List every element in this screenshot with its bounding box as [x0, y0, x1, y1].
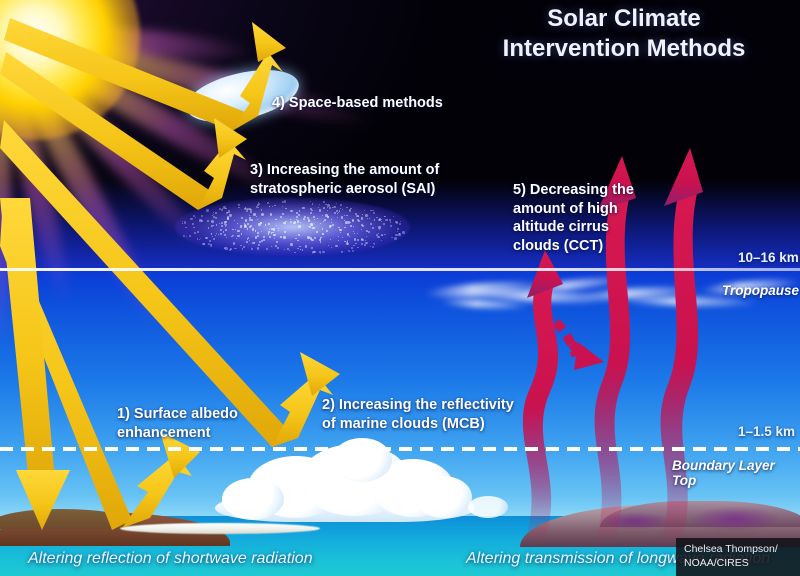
altitude-value-tropopause: 10–16 km	[738, 250, 799, 265]
layer-label-boundary-layer: Boundary Layer Top	[672, 458, 800, 488]
layer-label-tropopause: Tropopause	[722, 283, 799, 298]
method-label-5: 5) Decreasing the amount of high altitud…	[513, 181, 634, 255]
arrow-space-based-reflection	[4, 18, 286, 131]
tropopause-line	[0, 268, 800, 271]
method-label-2: 2) Increasing the reflectivity of marine…	[322, 396, 514, 433]
image-credit: Chelsea Thompson/ NOAA/CIRES	[676, 538, 800, 576]
credit-line-1: Chelsea Thompson/	[684, 542, 794, 556]
caption-shortwave: Altering reflection of shortwave radiati…	[28, 550, 313, 568]
altitude-value-boundary-layer: 1–1.5 km	[738, 424, 795, 439]
title-line-1: Solar Climate	[464, 4, 784, 34]
title-line-2: Intervention Methods	[464, 34, 784, 64]
method-label-3: 3) Increasing the amount of stratospheri…	[250, 161, 439, 198]
method-label-4: 4) Space-based methods	[272, 94, 443, 113]
boundary-layer-line	[0, 447, 800, 451]
arrow-longwave-outgoing-a	[523, 250, 563, 542]
arrow-longwave-blocked-dashed	[556, 322, 604, 370]
method-label-1: 1) Surface albedo enhancement	[117, 405, 238, 442]
page-title: Solar Climate Intervention Methods	[464, 4, 784, 64]
credit-line-2: NOAA/CIRES	[684, 556, 794, 570]
solar-climate-intervention-diagram: Solar Climate Intervention Methods 4) Sp…	[0, 0, 800, 576]
radiation-arrow-overlay	[0, 0, 800, 576]
